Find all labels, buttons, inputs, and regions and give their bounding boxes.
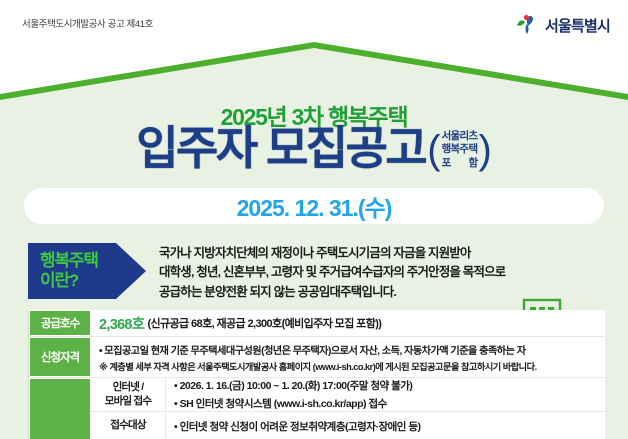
apply-internet-label-line-2: 모바일 접수 <box>105 395 151 408</box>
definition-line-1: 국가나 지방자치단체의 재정이나 주택도시기금의 자금을 지원받아 <box>159 244 579 263</box>
title-note-line-3b: 함 <box>468 157 477 170</box>
apply-target-label: 접수대상 <box>91 412 165 439</box>
title-note-lines: 서울리츠 행복주택 포 함 <box>441 130 479 170</box>
apply-internet-row: 인터넷 / 모바일 접수 • 2026. 1. 16.(금) 10:00 ~ 1… <box>91 378 605 411</box>
apply-target-value: • 인터넷 청약 신청이 어려운 정보취약계층(고령자·장애인 등) <box>165 412 605 439</box>
title-note-line-1: 서울리츠 <box>442 130 478 143</box>
seoul-symbol-icon <box>514 12 540 38</box>
seoul-logo: 서울특별시 <box>514 12 610 38</box>
seoul-logo-text: 서울특별시 <box>545 15 610 36</box>
supply-amount: 2,368호 <box>99 313 144 334</box>
apply-internet-line-1: • 2026. 1. 16.(금) 10:00 ~ 1. 20.(화) 17:0… <box>174 378 605 393</box>
deadline-date: 2025. 12. 31.(수) <box>237 189 392 223</box>
apply-internet-line-2: • SH 인터넷 청약시스템 (www.i-sh.co.kr/app) 접수 <box>174 396 605 411</box>
table-row-qualification: 신청자격 • 모집공고일 현재 기준 무주택세대구성원(청년은 무주택자)으로서… <box>29 337 605 378</box>
apply-label <box>29 378 91 439</box>
info-table: 공급호수 2,368호 (신규공급 68호, 재공급 2,300호(예비입주자 … <box>28 310 605 439</box>
main-title-group: 입주자 모집공고 ( 서울리츠 행복주택 포 함 ) <box>0 125 628 173</box>
supply-value: 2,368호 (신규공급 68호, 재공급 2,300호(예비입주자 모집 포함… <box>91 310 605 336</box>
title-note-line-3: 포 함 <box>442 157 478 170</box>
qualification-label: 신청자격 <box>29 337 91 377</box>
qualification-line-1: • 모집공고일 현재 기준 무주택세대구성원(청년은 무주택자)으로서 자산, … <box>99 342 526 357</box>
apply-internet-label: 인터넷 / 모바일 접수 <box>91 378 165 411</box>
document-number: 서울주택도시개발공사 공고 제41호 <box>22 16 153 30</box>
apply-internet-value: • 2026. 1. 16.(금) 10:00 ~ 1. 20.(화) 17:0… <box>165 378 605 411</box>
title-note-line-3a: 포 <box>442 157 451 170</box>
definition-description: 국가나 지방자치단체의 재정이나 주택도시기금의 자금을 지원받아 대학생, 청… <box>159 244 579 302</box>
table-row-apply: 인터넷 / 모바일 접수 • 2026. 1. 16.(금) 10:00 ~ 1… <box>29 378 605 439</box>
supply-label: 공급호수 <box>29 310 91 336</box>
paren-close: ) <box>478 131 491 169</box>
definition-line-2: 대학생, 청년, 신혼부부, 고령자 및 주거급여수급자의 주거안정을 목적으로 <box>159 263 579 282</box>
paren-open: ( <box>427 131 440 169</box>
qualification-value: • 모집공고일 현재 기준 무주택세대구성원(청년은 무주택자)으로서 자산, … <box>91 337 605 377</box>
title-note-line-2: 행복주택 <box>442 143 478 156</box>
apply-body: 인터넷 / 모바일 접수 • 2026. 1. 16.(금) 10:00 ~ 1… <box>91 378 605 439</box>
apply-target-line-1: • 인터넷 청약 신청이 어려운 정보취약계층(고령자·장애인 등) <box>174 419 605 434</box>
page-title: 입주자 모집공고 <box>136 125 425 173</box>
table-row-supply: 공급호수 2,368호 (신규공급 68호, 재공급 2,300호(예비입주자 … <box>29 310 605 337</box>
supply-detail: (신규공급 68호, 재공급 2,300호(예비입주자 모집 포함)) <box>147 315 381 331</box>
apply-target-row: 접수대상 • 인터넷 청약 신청이 어려운 정보취약계층(고령자·장애인 등) <box>91 411 605 439</box>
title-note: ( 서울리츠 행복주택 포 함 ) <box>427 130 492 170</box>
apply-internet-label-line-1: 인터넷 / <box>113 381 144 394</box>
qualification-line-2: ※ 계층별 세부 자격 사항은 서울주택도시개발공사 홈페이지 (www.i-s… <box>99 359 537 373</box>
house-roof-fill <box>0 42 628 98</box>
announcement-poster: 서울주택도시개발공사 공고 제41호 서울특별시 2025년 3차 행복주택 입… <box>0 0 628 439</box>
deadline-pill: 2025. 12. 31.(수) <box>24 188 604 224</box>
